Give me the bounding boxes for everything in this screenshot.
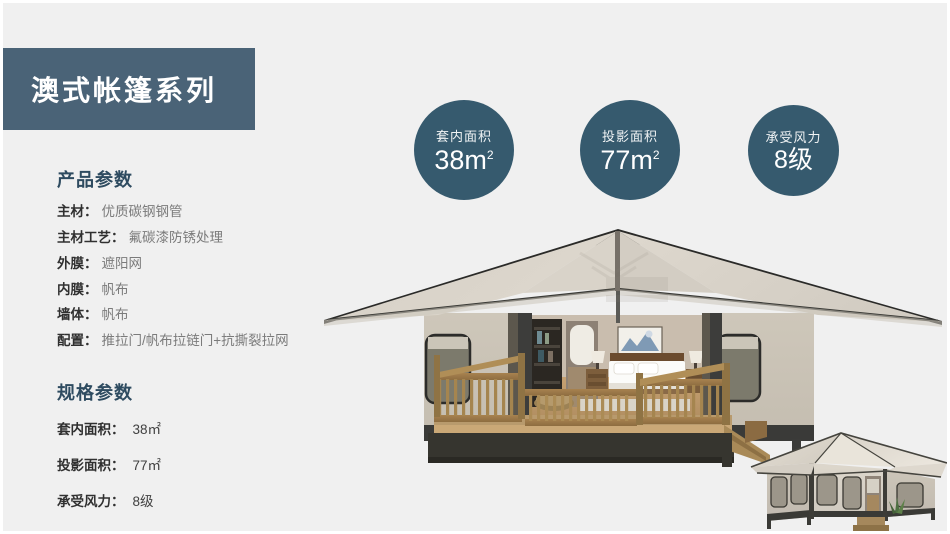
param-value: 帆布 [102,308,129,323]
title-banner: 澳式帐篷系列 [3,48,255,130]
page-title: 澳式帐篷系列 [31,69,217,109]
product-params-section: 产品参数 主材： 优质碳钢钢管 主材工艺： 氟碳漆防锈处理 外膜： 遮阳网 内膜… [57,166,357,349]
spec-label: 投影面积： [57,454,125,474]
slide-canvas: 澳式帐篷系列 产品参数 主材： 优质碳钢钢管 主材工艺： 氟碳漆防锈处理 外膜：… [0,0,950,534]
param-label: 主材工艺： [57,231,125,246]
badge-label: 套内面积 [436,126,492,145]
param-row: 内膜： 帆布 [57,283,357,298]
param-label: 墙体： [57,308,98,323]
param-row: 主材工艺： 氟碳漆防锈处理 [57,231,357,246]
param-label: 配置： [57,334,98,349]
secondary-tent-image [745,421,950,534]
badge-label: 投影面积 [602,126,658,145]
spec-label: 承受风力： [57,490,125,510]
param-row: 墙体： 帆布 [57,308,357,323]
badge-projected-area: 投影面积 77m2 [580,100,680,200]
param-value: 遮阳网 [102,257,143,272]
spec-params-heading: 规格参数 [57,379,357,405]
badge-value: 8级 [774,147,813,173]
specifications-panel: 产品参数 主材： 优质碳钢钢管 主材工艺： 氟碳漆防锈处理 外膜： 遮阳网 内膜… [57,166,357,526]
spec-label: 套内面积： [57,418,125,438]
badge-value: 77m2 [600,146,659,174]
param-value: 推拉门/帆布拉链门+抗撕裂拉网 [102,334,289,349]
param-label: 内膜： [57,283,98,298]
spec-row: 投影面积： 77㎡ [57,454,357,474]
param-row: 外膜： 遮阳网 [57,257,357,272]
param-value: 优质碳钢钢管 [102,205,183,220]
spec-row: 套内面积： 38㎡ [57,418,357,438]
badge-interior-area: 套内面积 38m2 [414,100,514,200]
product-params-heading: 产品参数 [57,166,357,192]
param-row: 配置： 推拉门/帆布拉链门+抗撕裂拉网 [57,334,357,349]
param-row: 主材： 优质碳钢钢管 [57,205,357,220]
param-label: 主材： [57,205,98,220]
badge-label: 承受风力 [765,127,821,146]
spec-value: 77㎡ [133,454,162,474]
spec-value: 8级 [133,490,154,510]
param-value: 帆布 [102,283,129,298]
param-label: 外膜： [57,257,98,272]
badge-value: 38m2 [434,146,493,174]
spec-value: 38㎡ [133,418,162,438]
spec-row: 承受风力： 8级 [57,490,357,510]
cropped-wood-fragment [745,421,767,443]
spec-params-section: 规格参数 套内面积： 38㎡ 投影面积： 77㎡ 承受风力： 8级 [57,379,357,510]
param-value: 氟碳漆防锈处理 [129,231,224,246]
badge-wind-resistance: 承受风力 8级 [748,105,839,196]
secondary-tent-illustration [745,421,950,534]
